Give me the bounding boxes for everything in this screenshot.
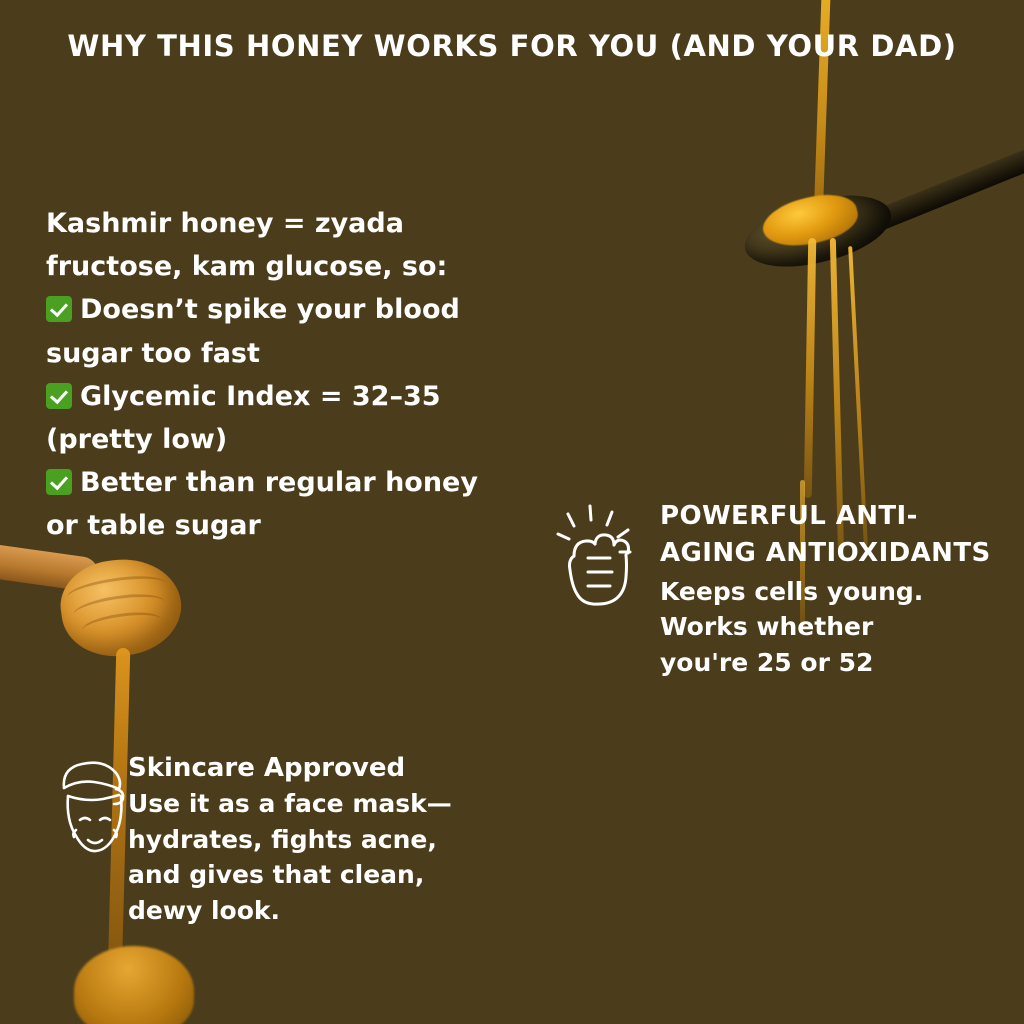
benefit-item-2-line-1: Glycemic Index = 32–35 xyxy=(46,375,586,418)
skincare-body-line-1: Use it as a face mask— xyxy=(128,786,568,822)
antioxidants-body-line-1: Keeps cells young. xyxy=(660,574,1000,610)
skincare-body-line-2: hydrates, fights acne, xyxy=(128,822,568,858)
antioxidants-title: POWERFUL ANTI-AGING ANTIOXIDANTS xyxy=(660,498,1000,572)
benefit-item-3-line-2: or table sugar xyxy=(46,504,586,547)
honey-thread-1 xyxy=(804,238,817,498)
face-mask-icon xyxy=(50,758,134,868)
skincare-title: Skincare Approved xyxy=(128,750,568,786)
benefit-item-3-line-1: Better than regular honey xyxy=(46,461,586,504)
spoon-handle xyxy=(867,142,1024,234)
green-check-icon xyxy=(46,383,72,409)
antioxidants-body-line-2: Works whether xyxy=(660,609,1000,645)
benefit-3-text-a: Better than regular honey xyxy=(80,467,478,498)
dipper-groove-2 xyxy=(72,590,167,628)
green-check-icon xyxy=(46,296,72,322)
dipper-honey-pool xyxy=(74,946,194,1024)
benefits-intro-line-1: Kashmir honey = zyada xyxy=(46,202,586,245)
antioxidants-block: POWERFUL ANTI-AGING ANTIOXIDANTS Keeps c… xyxy=(660,498,1000,680)
dipper-head xyxy=(55,552,187,664)
green-check-icon xyxy=(46,469,72,495)
benefit-item-2-line-2: (pretty low) xyxy=(46,418,586,461)
benefit-1-text-a: Doesn’t spike your blood xyxy=(80,294,460,325)
skincare-body: Use it as a face mask— hydrates, fights … xyxy=(128,786,568,928)
skincare-body-line-3: and gives that clean, xyxy=(128,857,568,893)
raised-fist-icon xyxy=(552,500,648,620)
benefit-item-1-line-1: Doesn’t spike your blood xyxy=(46,288,586,331)
page-title: WHY THIS HONEY WORKS FOR YOU (AND YOUR D… xyxy=(0,26,1024,66)
honey-spoon-icon xyxy=(735,135,1024,285)
dipper-groove-1 xyxy=(65,571,168,610)
honey-infographic-poster: WHY THIS HONEY WORKS FOR YOU (AND YOUR D… xyxy=(0,0,1024,1024)
spoon-honey-blob xyxy=(758,187,862,255)
benefits-block: Kashmir honey = zyada fructose, kam gluc… xyxy=(46,202,586,548)
dipper-groove-3 xyxy=(80,608,162,642)
spoon-bowl xyxy=(738,183,899,279)
benefit-2-text-a: Glycemic Index = 32–35 xyxy=(80,381,441,412)
antioxidants-body-line-3: you're 25 or 52 xyxy=(660,645,1000,681)
benefit-item-1-line-2: sugar too fast xyxy=(46,332,586,375)
skincare-body-line-4: dewy look. xyxy=(128,893,568,929)
antioxidants-body: Keeps cells young. Works whether you're … xyxy=(660,574,1000,681)
skincare-block: Skincare Approved Use it as a face mask—… xyxy=(128,750,568,928)
benefits-intro-line-2: fructose, kam glucose, so: xyxy=(46,245,586,288)
dipper-handle xyxy=(0,542,101,592)
